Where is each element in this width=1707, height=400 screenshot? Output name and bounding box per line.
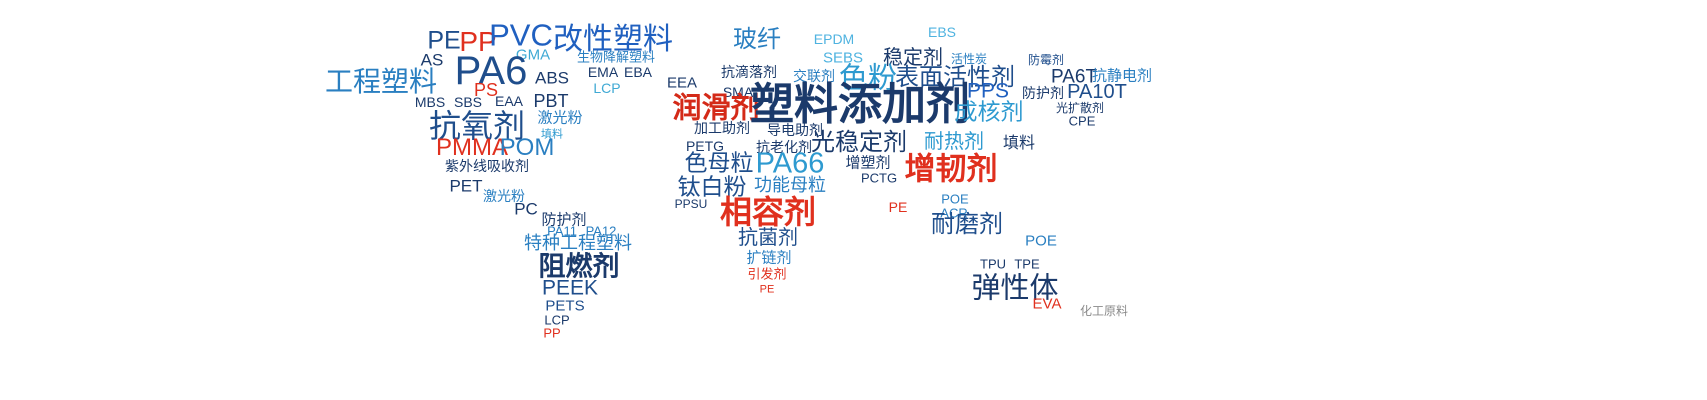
- cloud-word[interactable]: 光稳定剂: [811, 130, 907, 154]
- cloud-word[interactable]: 抗菌剂: [738, 227, 798, 247]
- cloud-word[interactable]: PETS: [545, 299, 584, 314]
- word-cloud-canvas: PEPPPVCGMA改性塑料生物降解塑料ASPA6工程塑料ABSEMAEBALC…: [0, 0, 1707, 400]
- cloud-word[interactable]: 玻纤: [733, 27, 781, 51]
- cloud-word[interactable]: PC: [514, 201, 538, 218]
- cloud-word[interactable]: 抗滴落剂: [721, 66, 777, 80]
- cloud-word[interactable]: EBA: [624, 65, 652, 79]
- cloud-word[interactable]: EVA: [1033, 297, 1062, 312]
- cloud-word[interactable]: 加工助剂: [694, 122, 750, 136]
- cloud-word[interactable]: PS: [474, 81, 498, 99]
- cloud-word[interactable]: PE: [889, 200, 908, 214]
- cloud-word[interactable]: 色母粒: [685, 153, 754, 176]
- cloud-word[interactable]: POE: [941, 193, 968, 206]
- cloud-word[interactable]: TPU: [980, 258, 1006, 271]
- cloud-word[interactable]: PE: [760, 285, 775, 296]
- cloud-word[interactable]: 光扩散剂: [1056, 102, 1104, 114]
- cloud-word[interactable]: POE: [1025, 234, 1057, 249]
- cloud-word[interactable]: PEEK: [542, 278, 598, 299]
- cloud-word[interactable]: 填料: [1003, 135, 1035, 151]
- cloud-word[interactable]: PCTG: [861, 172, 897, 185]
- cloud-word[interactable]: 塑料添加剂: [750, 83, 970, 127]
- cloud-word[interactable]: 化工原料: [1080, 305, 1128, 317]
- cloud-word[interactable]: PET: [449, 178, 482, 195]
- cloud-word[interactable]: 增韧剂: [905, 155, 998, 186]
- cloud-word[interactable]: 特种工程塑料: [524, 235, 632, 253]
- cloud-word[interactable]: EEA: [667, 76, 697, 91]
- cloud-word[interactable]: EAA: [495, 94, 523, 108]
- cloud-word[interactable]: PPSU: [675, 198, 708, 210]
- cloud-word[interactable]: 耐磨剂: [931, 212, 1003, 236]
- cloud-word[interactable]: LCP: [593, 81, 620, 95]
- cloud-word[interactable]: 紫外线吸收剂: [445, 160, 529, 174]
- cloud-word[interactable]: 防护剂: [1022, 87, 1064, 101]
- cloud-word[interactable]: PP: [543, 327, 560, 340]
- cloud-word[interactable]: 激光粉: [537, 111, 582, 126]
- cloud-word[interactable]: 防霉剂: [1028, 54, 1064, 66]
- cloud-word[interactable]: PA10T: [1067, 82, 1127, 102]
- cloud-word[interactable]: CPE: [1069, 115, 1096, 128]
- cloud-word[interactable]: 润滑剂: [672, 94, 759, 123]
- cloud-word[interactable]: 增塑剂: [845, 156, 890, 171]
- cloud-word[interactable]: 耐热剂: [924, 131, 984, 151]
- cloud-word[interactable]: EMA: [588, 65, 618, 79]
- cloud-word[interactable]: PBT: [533, 92, 568, 110]
- cloud-word[interactable]: 扩链剂: [746, 251, 791, 266]
- cloud-word[interactable]: PMMA: [436, 136, 508, 160]
- cloud-word[interactable]: 工程塑料: [325, 68, 437, 96]
- cloud-word[interactable]: EBS: [928, 25, 956, 39]
- cloud-word[interactable]: PPS: [967, 81, 1009, 102]
- cloud-word[interactable]: EPDM: [814, 32, 854, 46]
- cloud-word[interactable]: 引发剂: [747, 269, 786, 282]
- cloud-word[interactable]: 相容剂: [720, 196, 816, 228]
- cloud-word[interactable]: POM: [500, 136, 555, 160]
- cloud-word[interactable]: TPE: [1014, 258, 1039, 271]
- cloud-word[interactable]: 生物降解塑料: [577, 52, 655, 65]
- cloud-word[interactable]: 成核剂: [955, 102, 1024, 125]
- cloud-word[interactable]: ABS: [535, 70, 569, 87]
